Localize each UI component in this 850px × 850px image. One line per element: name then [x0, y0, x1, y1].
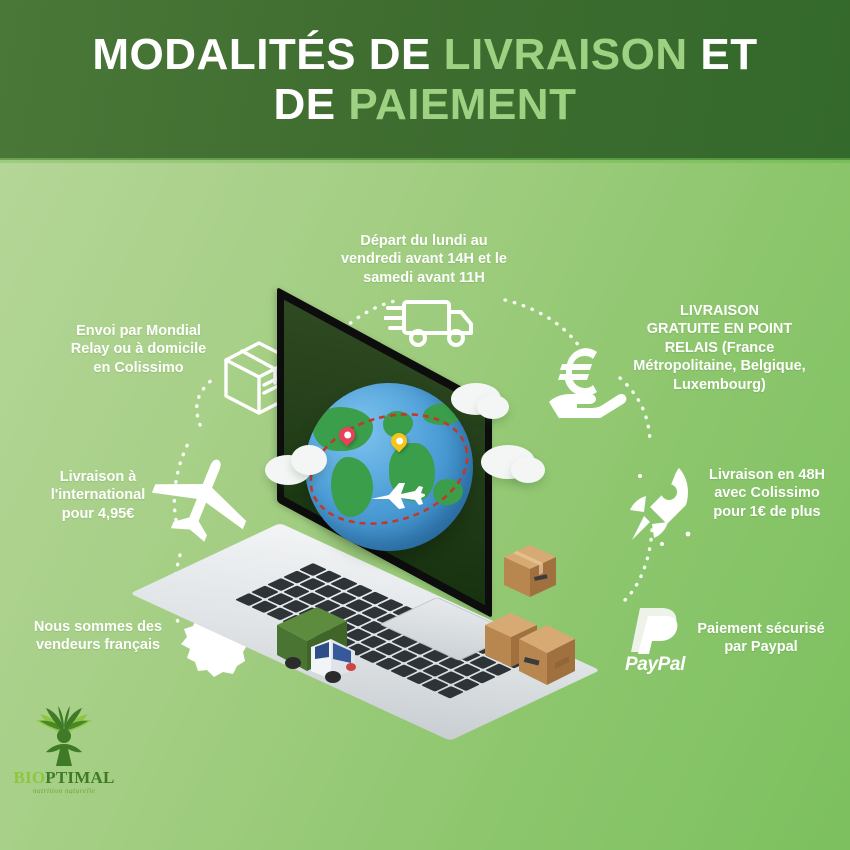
paypal-logo-icon: PayPal [612, 604, 698, 682]
label-free-relay: LIVRAISON GRATUITE EN POINT RELAIS (Fran… [612, 302, 827, 394]
tree-person-icon [12, 706, 116, 768]
globe [305, 383, 473, 551]
cloud-right-2 [511, 457, 545, 483]
label-paypal-secure: Paiement sécurisé par Paypal [682, 620, 840, 657]
laptop-globe-illustration [255, 345, 615, 685]
label-french-sellers: Nous sommes des vendeurs français [18, 618, 178, 655]
rocket-icon [622, 462, 700, 553]
package-small [500, 543, 562, 610]
package-stack [485, 607, 609, 696]
infographic-page: MODALITÉS DE LIVRAISON ET DE PAIEMENT [0, 0, 850, 850]
paypal-wordmark: PayPal [612, 654, 698, 676]
logo-wordmark-ptimal: PTIMAL [45, 768, 114, 787]
delivery-truck-3d [271, 597, 391, 690]
logo-wordmark: BIOPTIMAL [12, 768, 116, 788]
logo-tagline: nutrition naturelle [12, 786, 116, 795]
label-express-48h: Livraison en 48H avec Colissimo pour 1€ … [692, 466, 842, 521]
bioptimal-logo: BIOPTIMAL nutrition naturelle [12, 706, 116, 802]
label-carriers: Envoi par Mondial Relay ou à domicile en… [46, 322, 231, 377]
label-international: Livraison à l'international pour 4,95€ [28, 468, 168, 523]
logo-wordmark-bio: BIO [14, 768, 46, 787]
label-shipping-days: Départ du lundi au vendredi avant 14H et… [324, 232, 524, 287]
cloud-left-2 [291, 445, 327, 475]
cloud-top-right-2 [477, 395, 509, 419]
